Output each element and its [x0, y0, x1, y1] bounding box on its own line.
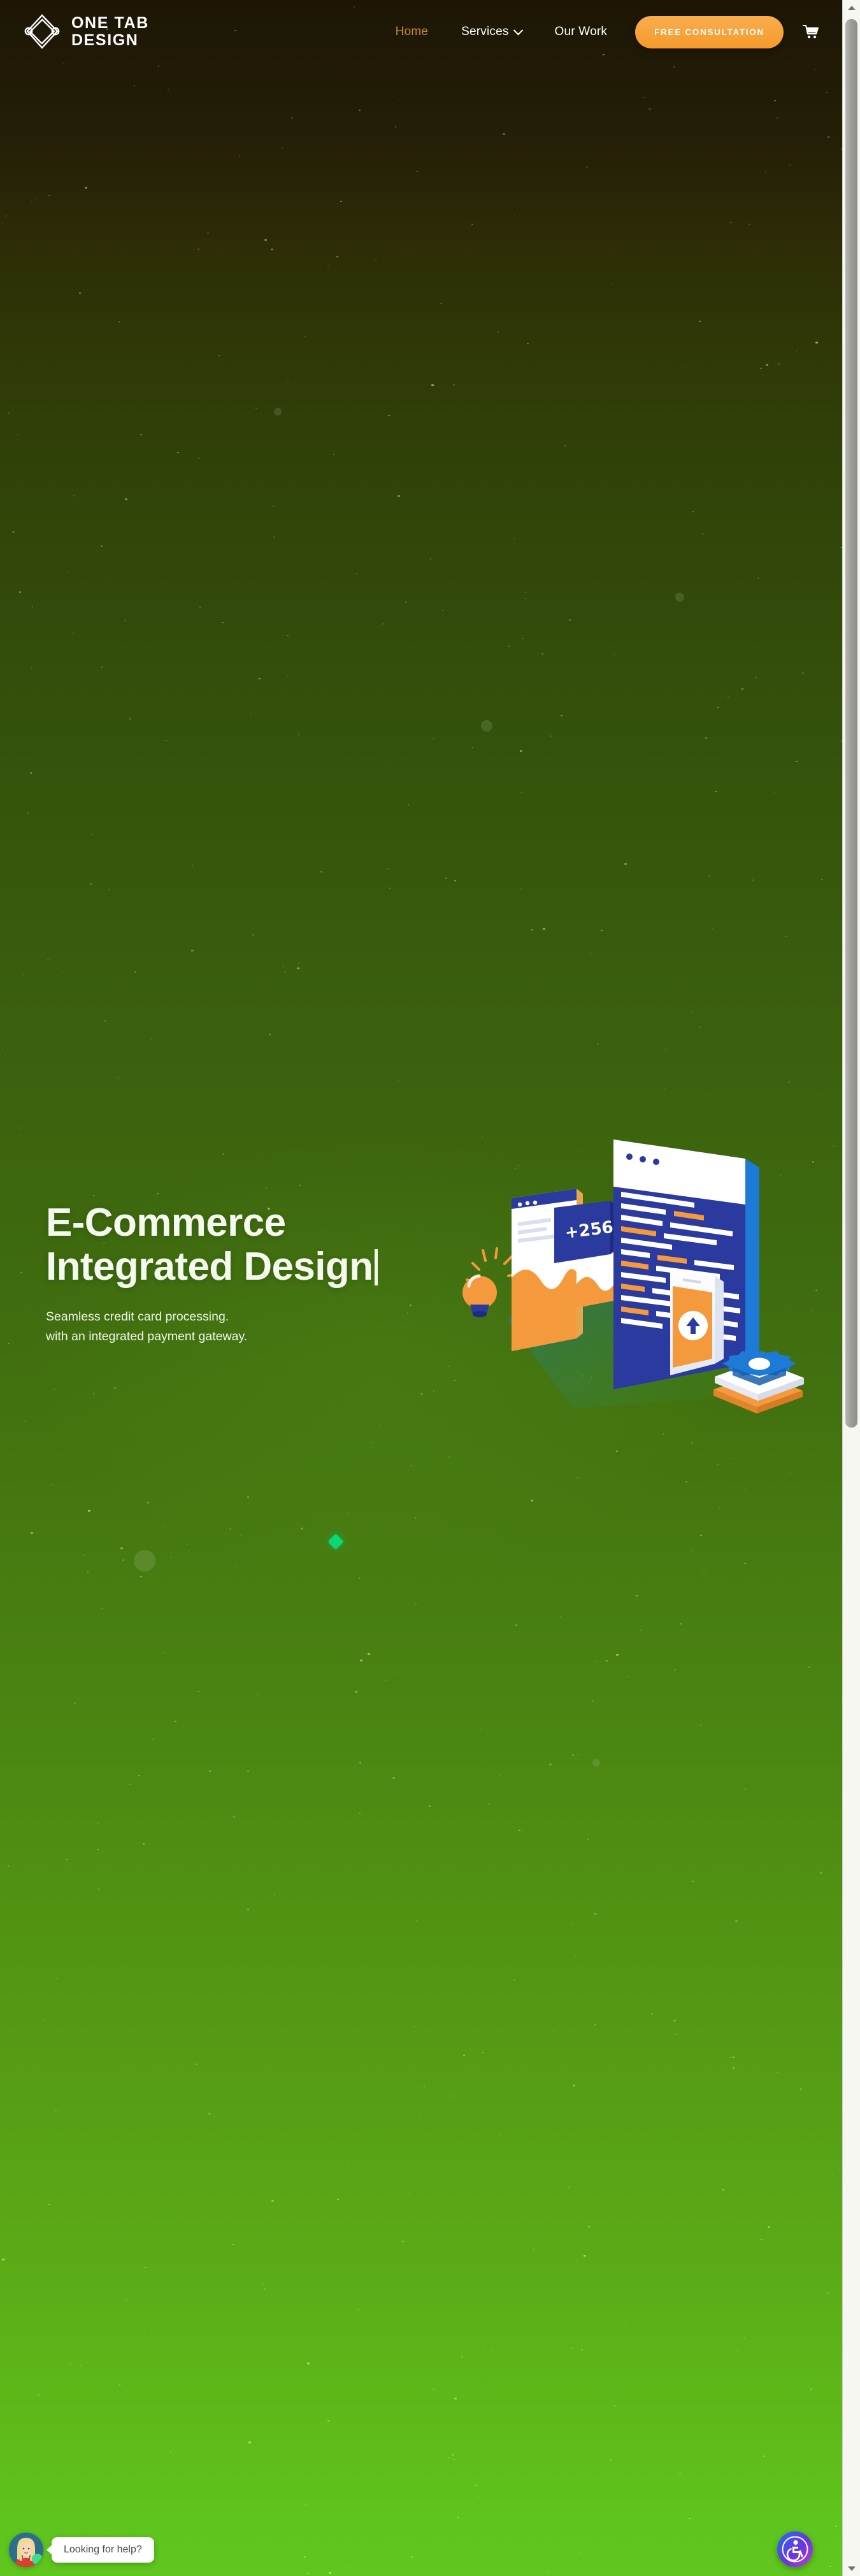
- support-agent-avatar[interactable]: [9, 2533, 43, 2567]
- chat-message-bubble[interactable]: Looking for help?: [52, 2537, 154, 2563]
- vertical-scrollbar[interactable]: [842, 0, 860, 2576]
- typing-caret: [375, 1249, 378, 1285]
- nav-item-services[interactable]: Services: [445, 25, 538, 39]
- lightbulb-icon: [462, 1248, 518, 1317]
- isometric-ecommerce-illustration: +256: [446, 1109, 828, 1440]
- nav-item-our-work[interactable]: Our Work: [538, 25, 624, 39]
- hero-title-line-1: E-Commerce: [46, 1201, 285, 1245]
- wheelchair-accessibility-icon[interactable]: [777, 2531, 813, 2567]
- brand-logo[interactable]: ONE TAB DESIGN: [22, 11, 149, 52]
- main-navigation: Home Services Our Work FREE CONSULTATION: [379, 0, 831, 64]
- hero-copy: E-Commerce Integrated Design Seamless cr…: [46, 1201, 454, 1347]
- nav-item-home[interactable]: Home: [379, 25, 445, 39]
- page-root: ONE TAB DESIGN Home Services Our Work FR…: [0, 0, 860, 2576]
- stat-badge: +256: [554, 1201, 615, 1263]
- hero-subtitle: Seamless credit card processing. with an…: [46, 1307, 454, 1347]
- browser-viewport: ONE TAB DESIGN Home Services Our Work FR…: [0, 0, 842, 2576]
- online-status-indicator: [32, 2554, 43, 2565]
- free-consultation-button[interactable]: FREE CONSULTATION: [635, 16, 784, 48]
- hero-title-line-2: Integrated Design: [46, 1245, 373, 1289]
- scrollbar-thumb[interactable]: [845, 19, 857, 1428]
- chat-widget[interactable]: Looking for help?: [9, 2533, 154, 2567]
- smartphone-upload: [670, 1268, 724, 1375]
- scroll-up-arrow-icon[interactable]: [843, 0, 860, 15]
- chevron-down-icon: [513, 25, 523, 35]
- hero-section: E-Commerce Integrated Design Seamless cr…: [0, 1096, 842, 1504]
- nav-item-home-label: Home: [396, 25, 428, 39]
- site-header: ONE TAB DESIGN Home Services Our Work FR…: [0, 0, 842, 64]
- nav-item-our-work-label: Our Work: [555, 25, 608, 39]
- nav-item-services-label: Services: [461, 25, 508, 39]
- brand-name: ONE TAB DESIGN: [71, 15, 149, 49]
- shopping-cart-icon[interactable]: [800, 21, 822, 43]
- hero-title: E-Commerce Integrated Design: [46, 1201, 454, 1289]
- scroll-down-arrow-icon[interactable]: [843, 2561, 860, 2576]
- diamond-rhombus-logo-icon: [22, 11, 62, 52]
